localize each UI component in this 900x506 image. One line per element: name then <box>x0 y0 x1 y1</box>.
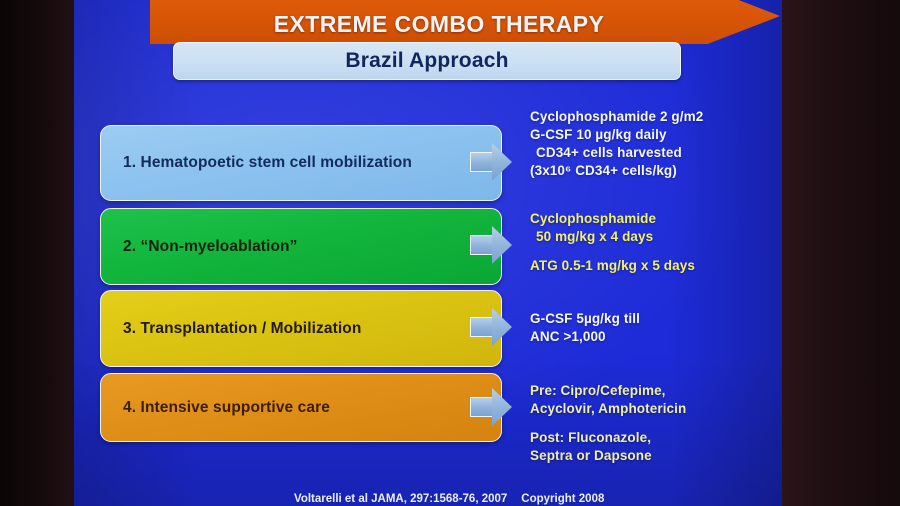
note-line: Cyclophosphamide 2 g/m2 <box>530 108 780 126</box>
note-line: 50 mg/kg x 4 days <box>530 228 780 246</box>
note-line: Acyclovir, Amphotericin <box>530 400 780 418</box>
note-line: Pre: Cipro/Cefepime, <box>530 382 780 400</box>
note-line: Cyclophosphamide <box>530 210 780 228</box>
arrow-head <box>492 226 512 264</box>
step-box-4[interactable]: 4. Intensive supportive care <box>100 373 502 442</box>
arrow-shaft <box>470 317 494 337</box>
arrow-head <box>492 308 512 346</box>
note-line: ATG 0.5-1 mg/kg x 5 days <box>530 257 780 275</box>
step-label-1: 1. Hematopoetic stem cell mobilization <box>101 154 412 172</box>
subtitle-box: Brazil Approach <box>173 42 681 80</box>
note-line: ANC >1,000 <box>530 328 780 346</box>
citation-copyright: Copyright 2008 <box>521 493 604 505</box>
note-line: CD34+ cells harvested <box>530 144 780 162</box>
step-notes-3: G-CSF 5µg/kg till ANC >1,000 <box>530 310 780 346</box>
step-label-4: 4. Intensive supportive care <box>101 399 330 417</box>
arrow-head <box>492 388 512 426</box>
step-box-1[interactable]: 1. Hematopoetic stem cell mobilization <box>100 125 502 201</box>
note-line: Septra or Dapsone <box>530 447 780 465</box>
note-spacer <box>530 418 780 429</box>
step-box-2[interactable]: 2. “Non-myeloablation” <box>100 208 502 285</box>
right-arrow-icon-2 <box>470 226 512 264</box>
arrow-shaft <box>470 397 494 417</box>
arrow-head <box>492 143 512 181</box>
slide-title: EXTREME COMBO THERAPY <box>274 13 656 44</box>
right-arrow-icon-4 <box>470 388 512 426</box>
arrow-shaft <box>470 152 494 172</box>
right-arrow-icon-3 <box>470 308 512 346</box>
citation-reference: Voltarelli et al JAMA, 297:1568-76, 2007 <box>294 493 507 505</box>
note-line: G-CSF 10 µg/kg daily <box>530 126 780 144</box>
note-line: G-CSF 5µg/kg till <box>530 310 780 328</box>
step-notes-2: Cyclophosphamide 50 mg/kg x 4 days ATG 0… <box>530 210 780 275</box>
slide-subtitle: Brazil Approach <box>345 49 508 73</box>
title-banner-arrow: EXTREME COMBO THERAPY <box>150 0 780 44</box>
presentation-slide: EXTREME COMBO THERAPY Brazil Approach 1.… <box>74 0 782 506</box>
projection-surround-right <box>782 0 900 506</box>
right-arrow-icon-1 <box>470 143 512 181</box>
note-line: Post: Fluconazole, <box>530 429 780 447</box>
step-notes-4: Pre: Cipro/Cefepime, Acyclovir, Amphoter… <box>530 382 780 465</box>
step-label-2: 2. “Non-myeloablation” <box>101 238 297 256</box>
note-line: (3x10⁶ CD34+ cells/kg) <box>530 162 780 180</box>
step-notes-1: Cyclophosphamide 2 g/m2 G-CSF 10 µg/kg d… <box>530 108 780 180</box>
step-box-3[interactable]: 3. Transplantation / Mobilization <box>100 290 502 367</box>
arrow-shaft <box>470 235 494 255</box>
step-label-3: 3. Transplantation / Mobilization <box>101 320 361 338</box>
projection-surround-left <box>0 0 80 506</box>
citation: Voltarelli et al JAMA, 297:1568-76, 2007… <box>294 493 604 505</box>
screenshot-stage: EXTREME COMBO THERAPY Brazil Approach 1.… <box>0 0 900 506</box>
note-spacer <box>530 246 780 257</box>
